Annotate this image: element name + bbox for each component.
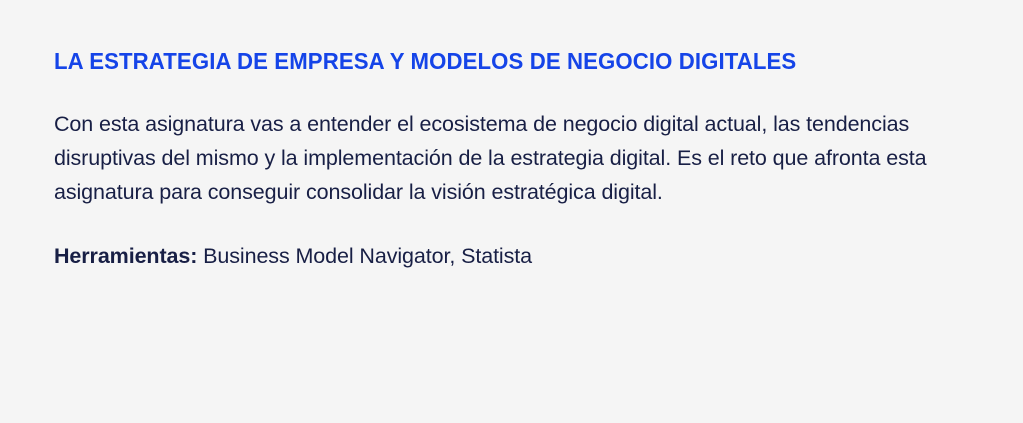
tools-value: Business Model Navigator, Statista: [203, 244, 532, 268]
tools-label: Herramientas:: [54, 244, 197, 268]
course-description: Con esta asignatura vas a entender el ec…: [54, 107, 959, 209]
course-info-panel: LA ESTRATEGIA DE EMPRESA Y MODELOS DE NE…: [0, 0, 1023, 423]
content-container: LA ESTRATEGIA DE EMPRESA Y MODELOS DE NE…: [54, 48, 974, 293]
tools-line: Herramientas: Business Model Navigator, …: [54, 241, 974, 271]
page-title: LA ESTRATEGIA DE EMPRESA Y MODELOS DE NE…: [54, 48, 942, 74]
